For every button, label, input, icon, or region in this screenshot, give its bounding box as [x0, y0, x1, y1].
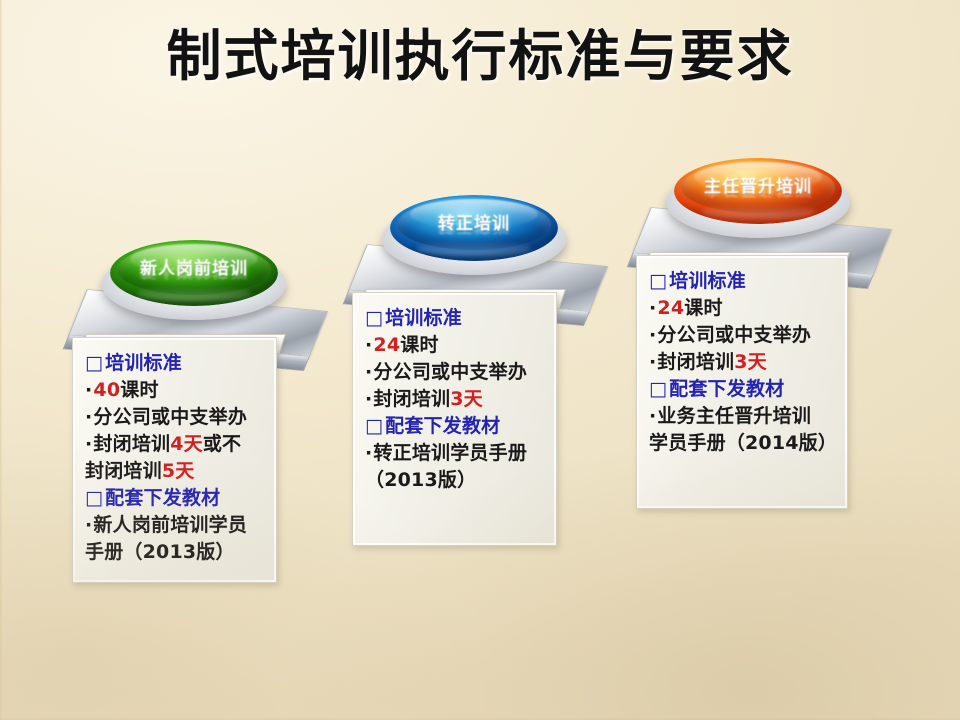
- button-label-reflection: 转正培训: [390, 221, 558, 240]
- page-title: 制式培训执行标准与要求: [0, 28, 960, 86]
- dot-bullet-icon: ·: [85, 433, 92, 455]
- card-item-continuation: 学员手册（2014版）: [649, 430, 837, 457]
- card-heading: □配套下发教材: [85, 485, 266, 512]
- card-heading: □培训标准: [649, 268, 837, 295]
- card-item: ·封闭培训3天: [649, 349, 837, 376]
- card-item: ·封闭培训3天: [365, 386, 546, 413]
- square-bullet-icon: □: [365, 415, 383, 437]
- slide-canvas: 制式培训执行标准与要求 新人岗前培训 新人岗前培训 □培训标准: [0, 0, 960, 720]
- card-item: ·分公司或中支举办: [649, 322, 837, 349]
- dot-bullet-icon: ·: [85, 379, 92, 401]
- dot-bullet-icon: ·: [649, 324, 656, 346]
- square-bullet-icon: □: [649, 378, 667, 400]
- dome-lower-highlight: [417, 241, 531, 256]
- card-item: ·转正培训学员手册: [365, 440, 546, 467]
- card-heading: □培训标准: [85, 350, 266, 377]
- info-card-supervisor-promotion: □培训标准 ·24课时 ·分公司或中支举办 ·封闭培训3天 □配套下发教材 ·业…: [636, 255, 848, 509]
- card-item: ·24课时: [365, 332, 546, 359]
- card-item: ·24课时: [649, 295, 837, 322]
- dome-lower-highlight: [701, 204, 815, 219]
- card-item: ·分公司或中支举办: [365, 359, 546, 386]
- card-heading: □配套下发教材: [365, 413, 546, 440]
- button-label-reflection: 主任晋升培训: [674, 184, 842, 203]
- square-bullet-icon: □: [649, 270, 667, 292]
- card-item: ·新人岗前培训学员: [85, 512, 266, 539]
- square-bullet-icon: □: [365, 307, 383, 329]
- info-card-new-recruit: □培训标准 ·40课时 ·分公司或中支举办 ·封闭培训4天或不 封闭培训5天 □…: [72, 337, 277, 583]
- card-item: ·40课时: [85, 377, 266, 404]
- dot-bullet-icon: ·: [85, 406, 92, 428]
- card-item: ·封闭培训4天或不: [85, 431, 266, 458]
- dot-bullet-icon: ·: [365, 334, 372, 356]
- card-heading: □培训标准: [365, 305, 546, 332]
- button-wrap-regularization[interactable]: 转正培训 转正培训: [390, 195, 558, 275]
- dome-button-new-recruit[interactable]: 新人岗前培训 新人岗前培训: [110, 240, 278, 306]
- button-wrap-supervisor-promotion[interactable]: 主任晋升培训 主任晋升培训: [674, 158, 842, 238]
- card-item: ·分公司或中支举办: [85, 404, 266, 431]
- dome-lower-highlight: [137, 286, 251, 301]
- card-item: ·业务主任晋升培训: [649, 403, 837, 430]
- card-item-continuation: 封闭培训5天: [85, 458, 266, 485]
- dome-button-supervisor-promotion[interactable]: 主任晋升培训 主任晋升培训: [674, 158, 842, 224]
- dot-bullet-icon: ·: [649, 351, 656, 373]
- button-wrap-new-recruit[interactable]: 新人岗前培训 新人岗前培训: [110, 240, 278, 320]
- dot-bullet-icon: ·: [85, 514, 92, 536]
- info-card-regularization: □培训标准 ·24课时 ·分公司或中支举办 ·封闭培训3天 □配套下发教材 ·转…: [352, 292, 557, 546]
- dot-bullet-icon: ·: [365, 388, 372, 410]
- card-item-continuation: （2013版）: [365, 467, 546, 494]
- square-bullet-icon: □: [85, 487, 103, 509]
- button-label-reflection: 新人岗前培训: [110, 266, 278, 285]
- dome-button-regularization[interactable]: 转正培训 转正培训: [390, 195, 558, 261]
- card-item-continuation: 手册（2013版）: [85, 539, 266, 566]
- dot-bullet-icon: ·: [365, 361, 372, 383]
- card-heading: □配套下发教材: [649, 376, 837, 403]
- dot-bullet-icon: ·: [649, 297, 656, 319]
- square-bullet-icon: □: [85, 352, 103, 374]
- dot-bullet-icon: ·: [365, 442, 372, 464]
- dot-bullet-icon: ·: [649, 405, 656, 427]
